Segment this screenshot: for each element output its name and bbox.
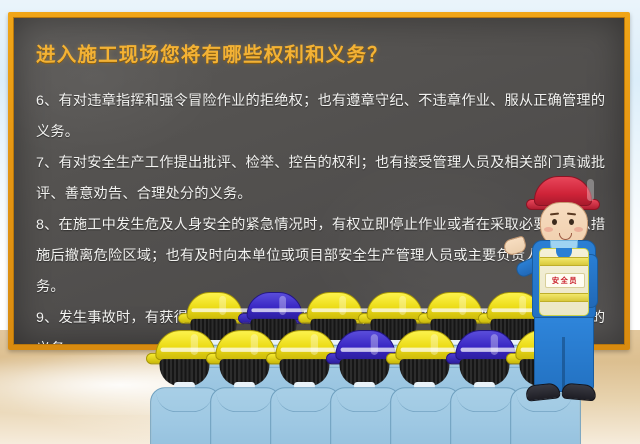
officer-shoe-left [525,382,560,401]
officer-hand [502,235,528,256]
officer-blush-left [544,227,553,232]
worker-helmet-icon [307,292,363,320]
officer-vest-stripe-bottom [540,293,588,302]
worker-helmet-band [431,308,494,312]
worker-helmet-icon [367,292,423,320]
worker-helmet-band [191,308,254,312]
officer-vest-stripe-top [540,257,588,266]
board-paragraph-6: 6、有对违章指挥和强令冒险作业的拒绝权；也有遵章守纪、不违章作业、服从正确管理的… [36,86,608,148]
safety-officer-figure: 安全员 [506,176,622,426]
officer-mouth [559,233,572,240]
officer-eye-left [552,219,557,225]
slide-canvas: 进入施工现场您将有哪些权利和义务？ 6、有对违章指挥和强令冒险作业的拒绝权；也有… [0,0,640,444]
worker-helmet-band [311,308,374,312]
worker-helmet-icon [427,292,483,320]
officer-legs [534,312,594,392]
officer-eye-right [569,219,574,225]
officer-helmet-ridge [587,179,594,201]
board-title: 进入施工现场您将有哪些权利和义务？ [36,38,596,67]
officer-blush-right [574,227,583,232]
officer-leg-divider [562,337,565,391]
officer-brow-right [567,213,576,216]
officer-safety-vest: 安全员 [539,248,589,316]
worker-helmet-icon [187,292,243,320]
worker-helmet-band [251,308,314,312]
officer-brow-left [550,213,559,216]
officer-badge-label: 安全员 [545,273,585,288]
worker-helmet-band [371,308,434,312]
worker-helmet-icon [247,292,303,320]
